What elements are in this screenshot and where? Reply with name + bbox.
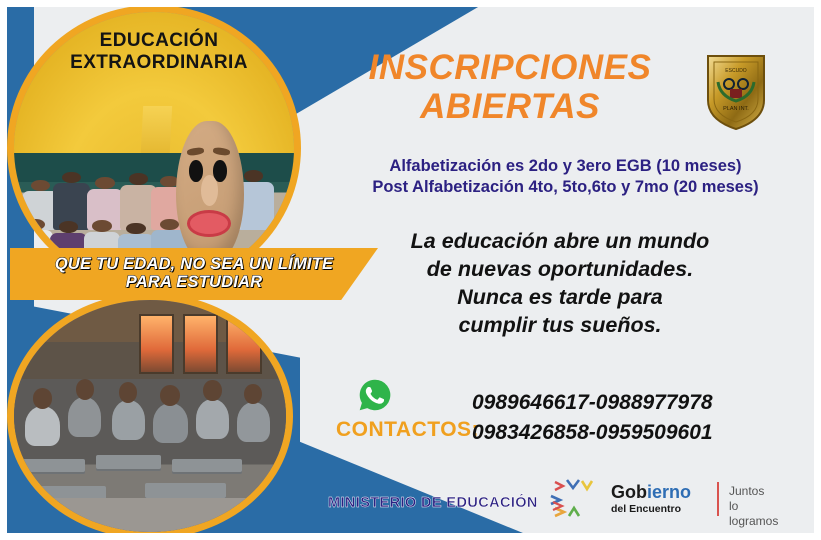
tagline-line2: lo logramos — [729, 499, 789, 529]
tent-title-line2: EXTRAORDINARIA — [34, 52, 284, 74]
svg-text:PLAN INT.: PLAN INT. — [723, 106, 749, 112]
svg-text:ESCUDO: ESCUDO — [725, 68, 747, 74]
headline-line1: INSCRIPCIONES — [340, 48, 680, 87]
gob-word1: Gob — [611, 482, 647, 502]
promotional-poster: EDUCACIÓN EXTRAORDINARIA — [0, 0, 821, 540]
levels-line1: Alfabetización es 2do y 3ero EGB (10 mes… — [310, 156, 821, 177]
headline-line2: ABIERTAS — [340, 87, 680, 126]
gobierno-tagline: Juntos lo logramos — [729, 484, 789, 529]
levels-line2: Post Alfabetización 4to, 5to,6to y 7mo (… — [310, 177, 821, 198]
institution-badge-icon: ESCUDO PLAN INT. — [700, 50, 772, 132]
contacts-label: CONTACTOS: — [336, 418, 479, 442]
phones-line1[interactable]: 0989646617-0988977978 — [472, 388, 713, 418]
logo-divider — [717, 482, 719, 516]
photo-bottom-content — [14, 300, 286, 532]
banner-line2: PARA ESTUDIAR — [126, 274, 262, 292]
gobierno-wordmark: Gobierno del Encuentro — [611, 483, 691, 515]
phones-line2[interactable]: 0983426858-0959509601 — [472, 418, 713, 448]
tent-overlay-title: EDUCACIÓN EXTRAORDINARIA — [34, 30, 284, 74]
gob-subtitle: del Encuentro — [611, 503, 691, 515]
gobierno-chevrons-icon — [549, 478, 607, 522]
slogan-line2: de nuevas oportunidades. — [330, 256, 790, 284]
program-levels: Alfabetización es 2do y 3ero EGB (10 mes… — [310, 156, 821, 198]
banner-line1: QUE TU EDAD, NO SEA UN LÍMITE — [55, 256, 333, 274]
whatsapp-icon[interactable] — [358, 378, 392, 412]
ministry-label: MINISTERIO DE EDUCACIÓN — [328, 495, 538, 511]
contact-phone-numbers[interactable]: 0989646617-0988977978 0983426858-0959509… — [472, 388, 713, 448]
tent-title-line1: EDUCACIÓN — [34, 30, 284, 52]
gob-word2: ierno — [647, 482, 691, 502]
right-content-column: INSCRIPCIONES ABIERTAS ESCUDO PLAN INT. … — [300, 0, 821, 540]
tagline-line1: Juntos — [729, 484, 789, 499]
government-logo: Gobierno del Encuentro Juntos lo logramo… — [549, 478, 789, 524]
photo-classroom — [14, 300, 286, 532]
slogan-line4: cumplir tus sueños. — [330, 312, 790, 340]
page-title: INSCRIPCIONES ABIERTAS — [340, 48, 680, 126]
slogan-line3: Nunca es tarde para — [330, 284, 790, 312]
motivational-slogan: La educación abre un mundo de nuevas opo… — [330, 228, 790, 340]
classroom-seating — [14, 379, 286, 532]
slogan-line1: La educación abre un mundo — [330, 228, 790, 256]
mascot-character — [176, 121, 243, 262]
